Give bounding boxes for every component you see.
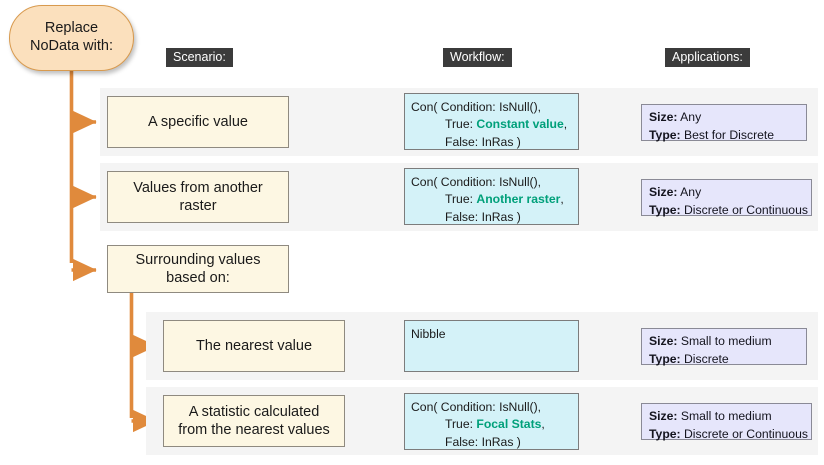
workflow-1-line1: Con( Condition: IsNull(), bbox=[411, 99, 578, 116]
application-box-another-raster[interactable]: Size: Any Type: Discrete or Continuous bbox=[641, 179, 812, 216]
scenario-box-1-line1: A specific value bbox=[148, 113, 248, 131]
application-2-size-label: Size: bbox=[649, 185, 677, 199]
application-3-type-label: Type: bbox=[649, 352, 681, 366]
workflow-4-line2: True: Focal Stats, bbox=[411, 416, 578, 433]
workflow-4-line1: Con( Condition: IsNull(), bbox=[411, 399, 578, 416]
scenario-box-specific-value[interactable]: A specific value bbox=[107, 96, 289, 148]
workflow-1-line3: False: InRas ) bbox=[411, 134, 578, 151]
workflow-box-con-constant-value[interactable]: Con( Condition: IsNull(), True: Constant… bbox=[404, 93, 579, 150]
workflow-4-line2-post: , bbox=[541, 417, 544, 431]
application-2-size-row: Size: Any bbox=[649, 184, 811, 202]
workflow-box-con-focal-stats[interactable]: Con( Condition: IsNull(), True: Focal St… bbox=[404, 393, 579, 450]
workflow-box-con-another-raster[interactable]: Con( Condition: IsNull(), True: Another … bbox=[404, 168, 579, 225]
workflow-1-highlight: Constant value bbox=[476, 117, 563, 131]
workflow-2-line1: Con( Condition: IsNull(), bbox=[411, 174, 578, 191]
scenario-box-nearest-value[interactable]: The nearest value bbox=[163, 320, 345, 372]
application-2-type-label: Type: bbox=[649, 203, 681, 217]
scenario-box-4-line2: from the nearest values bbox=[178, 421, 330, 439]
application-1-type-row: Type: Best for Discrete bbox=[649, 127, 806, 145]
orange-connector-trunk-main bbox=[72, 71, 97, 270]
workflow-1-line2: True: Constant value, bbox=[411, 116, 578, 133]
scenario-box-another-raster[interactable]: Values from another raster bbox=[107, 171, 289, 223]
workflow-1-line2-pre: True: bbox=[445, 117, 476, 131]
application-box-specific-value[interactable]: Size: Any Type: Best for Discrete bbox=[641, 104, 807, 141]
parent-node-line1: Surrounding values bbox=[136, 251, 261, 269]
workflow-2-line2-pre: True: bbox=[445, 192, 476, 206]
application-2-type-row: Type: Discrete or Continuous bbox=[649, 202, 811, 220]
application-4-size-row: Size: Small to medium bbox=[649, 408, 811, 426]
workflow-2-line2: True: Another raster, bbox=[411, 191, 578, 208]
root-callout-line1: Replace bbox=[30, 20, 113, 38]
scenario-box-statistic-nearest-values[interactable]: A statistic calculated from the nearest … bbox=[163, 395, 345, 447]
application-box-statistic-nearest-values[interactable]: Size: Small to medium Type: Discrete or … bbox=[641, 403, 812, 440]
workflow-2-line3: False: InRas ) bbox=[411, 209, 578, 226]
workflow-3-line1: Nibble bbox=[411, 326, 578, 343]
scenario-box-4-line1: A statistic calculated bbox=[178, 403, 330, 421]
application-4-type-row: Type: Discrete or Continuous bbox=[649, 426, 811, 444]
application-2-size-value: Any bbox=[677, 185, 701, 199]
application-1-size-label: Size: bbox=[649, 110, 677, 124]
application-4-size-value: Small to medium bbox=[677, 409, 771, 423]
root-callout-replace-nodata[interactable]: Replace NoData with: bbox=[9, 5, 134, 71]
application-1-type-value: Best for Discrete bbox=[681, 128, 774, 142]
scenario-box-2-line2: raster bbox=[133, 197, 263, 215]
workflow-4-line2-pre: True: bbox=[445, 417, 476, 431]
application-1-size-row: Size: Any bbox=[649, 109, 806, 127]
application-4-type-value: Discrete or Continuous bbox=[681, 427, 808, 441]
application-1-size-value: Any bbox=[677, 110, 701, 124]
application-box-nearest-value[interactable]: Size: Small to medium Type: Discrete bbox=[641, 328, 807, 365]
application-1-type-label: Type: bbox=[649, 128, 681, 142]
application-4-type-label: Type: bbox=[649, 427, 681, 441]
workflow-1-line2-post: , bbox=[564, 117, 567, 131]
application-3-type-row: Type: Discrete bbox=[649, 351, 806, 369]
workflow-2-line2-post: , bbox=[560, 192, 563, 206]
column-header-workflow: Workflow: bbox=[443, 48, 512, 67]
column-header-applications: Applications: bbox=[665, 48, 750, 67]
application-3-size-label: Size: bbox=[649, 334, 677, 348]
diagram-canvas: Replace NoData with: Scenario: Workflow:… bbox=[0, 0, 824, 465]
scenario-box-3-line1: The nearest value bbox=[196, 337, 312, 355]
column-header-scenario: Scenario: bbox=[166, 48, 233, 67]
workflow-2-highlight: Another raster bbox=[476, 192, 560, 206]
parent-node-line2: based on: bbox=[136, 269, 261, 287]
application-2-type-value: Discrete or Continuous bbox=[681, 203, 808, 217]
root-callout-line2: NoData with: bbox=[30, 38, 113, 56]
workflow-4-line3: False: InRas ) bbox=[411, 434, 578, 451]
application-3-size-value: Small to medium bbox=[677, 334, 771, 348]
application-4-size-label: Size: bbox=[649, 409, 677, 423]
application-3-type-value: Discrete bbox=[681, 352, 729, 366]
application-3-size-row: Size: Small to medium bbox=[649, 333, 806, 351]
workflow-box-nibble[interactable]: Nibble bbox=[404, 320, 579, 372]
scenario-box-surrounding-values[interactable]: Surrounding values based on: bbox=[107, 245, 289, 293]
workflow-4-highlight: Focal Stats bbox=[476, 417, 541, 431]
scenario-box-2-line1: Values from another bbox=[133, 179, 263, 197]
